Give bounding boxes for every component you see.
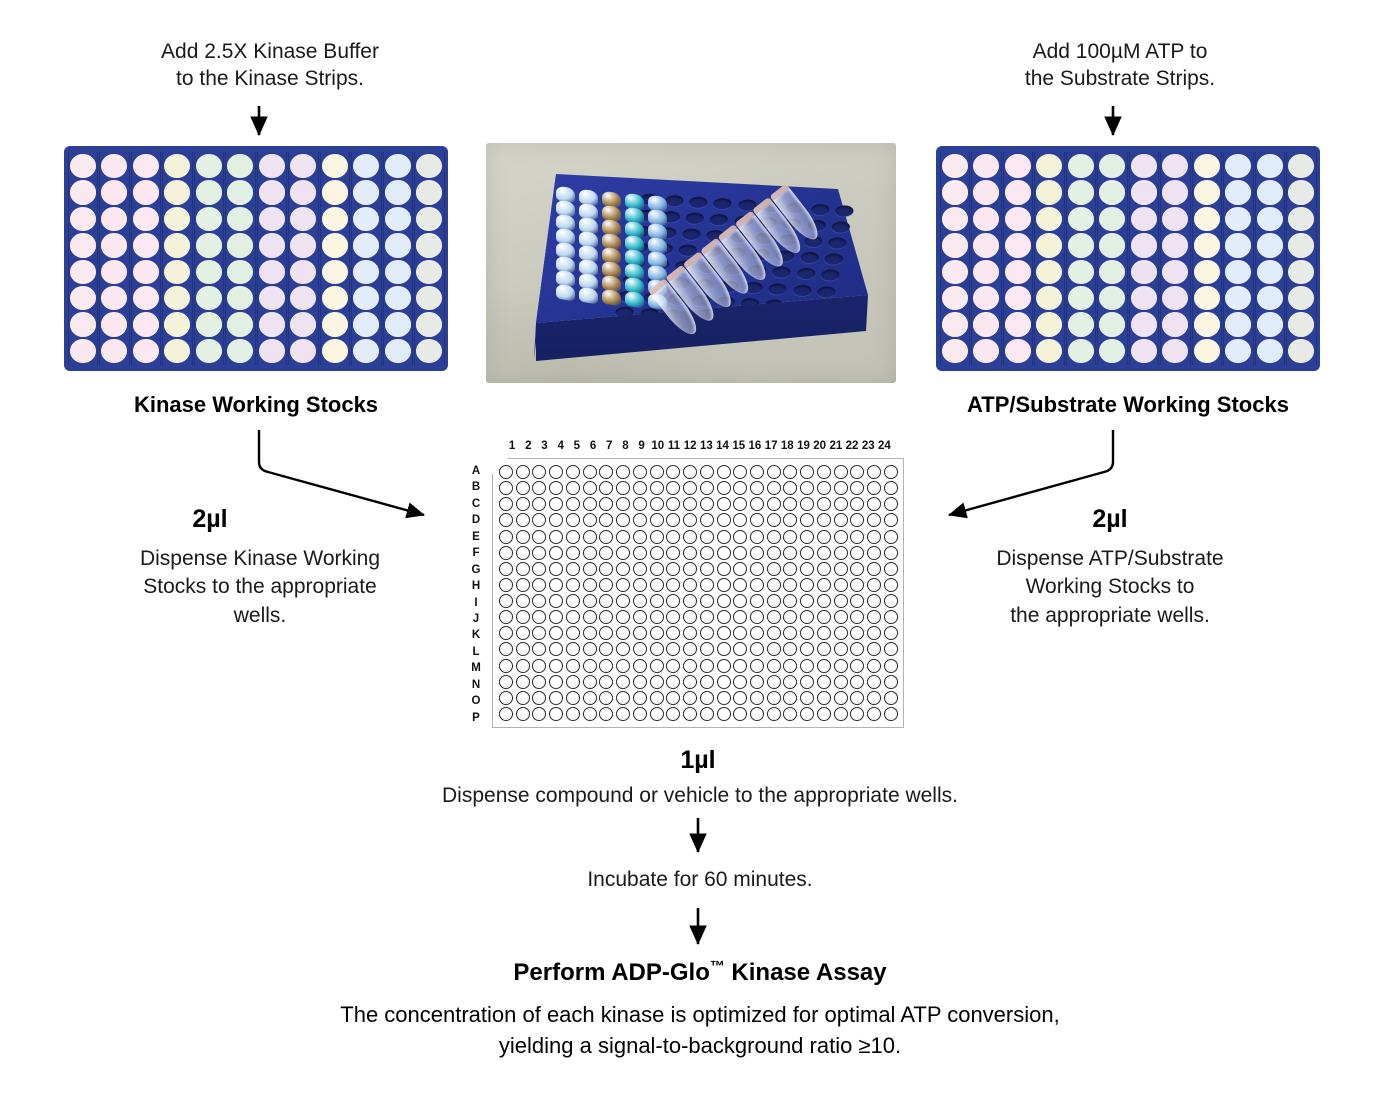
plate-well [1005,312,1031,336]
plate384-well [834,497,848,511]
plate384-well [767,562,781,576]
plate384-well [834,659,848,673]
plate384-well [650,659,664,673]
plate384-well [700,691,714,705]
plate384-well [767,642,781,656]
plate-well [227,312,253,336]
well-strip [288,150,319,367]
plate384-well [817,659,831,673]
photo-rack-hole [681,228,701,240]
plate-well [942,312,968,336]
plate384-row [499,626,898,640]
plate-well [1162,286,1188,310]
plate384-well [717,610,731,624]
plate384-well [683,594,697,608]
plate384-well [599,465,613,479]
plate-well [101,154,127,178]
plate384-well [800,594,814,608]
plate384-well [700,626,714,640]
right-instruction-line1: Add 100µM ATP to [960,38,1280,65]
plate-well [1288,260,1314,284]
plate-well [385,260,411,284]
plate384-well [850,626,864,640]
plate384-well [583,578,597,592]
plate384-well [683,626,697,640]
plate384-well [834,481,848,495]
plate384-well [717,465,731,479]
plate384-well [516,481,530,495]
plate-well [133,233,159,257]
atp-substrate-working-stocks-plate [936,146,1320,371]
plate-well [101,286,127,310]
plate384-column-label: 22 [844,440,860,452]
plate-well [353,286,379,310]
plate384-well [884,626,898,640]
plate384-well [783,497,797,511]
plate-well [322,286,348,310]
plate384-well [566,707,580,721]
plate384-well [549,594,563,608]
well-strip [383,150,414,367]
plate384-well [666,675,680,689]
plate384-well [834,642,848,656]
plate384-well [516,626,530,640]
plate384-well [549,626,563,640]
plate384-well [867,497,881,511]
plate-well [416,339,442,363]
plate-well [1257,260,1283,284]
photo-rack-hole [831,221,851,233]
photo-colored-tube-strip [625,192,644,307]
well-strip [257,150,288,367]
plate-well [101,233,127,257]
well-strip [1129,150,1160,367]
plate384-well [834,707,848,721]
plate384-well [499,675,513,689]
plate384-row-label: K [468,627,484,643]
plate384-well [549,659,563,673]
plate384-well [700,497,714,511]
plate384-row-label: E [468,529,484,545]
plate384-column-label: 14 [714,440,730,452]
plate384-well [783,707,797,721]
plate384-well [750,610,764,624]
plate-well [101,339,127,363]
plate384-well [733,691,747,705]
plate384-well [767,497,781,511]
plate384-well [532,562,546,576]
plate384-well [834,626,848,640]
plate384-well [666,513,680,527]
photo-colored-tube-strip [579,188,598,303]
plate384-well [650,562,664,576]
plate-well [385,312,411,336]
plate-well [416,207,442,231]
plate-well [1068,154,1094,178]
plate384-well [549,578,563,592]
well-strip [1003,150,1034,367]
plate-well [1131,180,1157,204]
plate-well [942,180,968,204]
plate384-well [783,610,797,624]
plate384-column-label: 18 [779,440,795,452]
plate384-well [867,546,881,560]
plate-well [133,339,159,363]
plate-well [70,312,96,336]
plate384-well [783,626,797,640]
plate384-well [633,594,647,608]
plate384-well [633,497,647,511]
plate-well [164,286,190,310]
plate-well [1005,154,1031,178]
plate384-well [650,642,664,656]
plate384-well [783,562,797,576]
plate-well [196,312,222,336]
plate384-column-labels: 123456789101112131415161718192021222324 [504,440,893,452]
plate384-well [717,578,731,592]
plate-well [973,339,999,363]
plate384-well [583,546,597,560]
plate384-well [650,707,664,721]
plate-well [227,260,253,284]
plate384-well [767,465,781,479]
plate384-column-label: 3 [536,440,552,452]
plate384-well [599,562,613,576]
plate-well [1162,312,1188,336]
plate384-well [616,626,630,640]
right-caption-line1: Dispense ATP/Substrate [955,545,1265,573]
plate384-well [499,513,513,527]
plate384-column-label: 7 [601,440,617,452]
plate384-well [599,578,613,592]
plate-well [227,207,253,231]
plate384-well [850,465,864,479]
plate384-well [850,562,864,576]
plate384-well [834,610,848,624]
plate-well [973,260,999,284]
plate384-well [783,530,797,544]
plate-well [290,260,316,284]
plate384-well [549,497,563,511]
plate-well [1225,286,1251,310]
plate384-well [817,707,831,721]
plate384-well [783,675,797,689]
plate384-well [700,465,714,479]
plate-well [1288,154,1314,178]
plate384-well [800,530,814,544]
plate-well [1194,312,1220,336]
plate-well [1194,154,1220,178]
plate384-column-label: 16 [747,440,763,452]
plate384-well [516,691,530,705]
plate-well [290,154,316,178]
plate384-row-label: M [468,660,484,676]
plate-well [353,207,379,231]
plate-well [942,286,968,310]
well-strip [1066,150,1097,367]
plate384-well [850,546,864,560]
plate384-well [599,594,613,608]
left-volume-label: 2µl [130,503,290,536]
plate384-well [499,530,513,544]
plate384-well [850,675,864,689]
plate384-well [733,626,747,640]
plate384-well [867,691,881,705]
plate384-well [566,594,580,608]
plate384-well [583,497,597,511]
plate384-well [733,497,747,511]
plate-well [416,180,442,204]
plate384-well [733,642,747,656]
plate384-well [817,675,831,689]
tube-rack-photo [486,143,896,383]
plate384-well [666,642,680,656]
plate384-well [767,481,781,495]
plate-well [227,233,253,257]
plate-well [133,207,159,231]
plate-well [1257,286,1283,310]
plate-well [1005,207,1031,231]
plate384-well [700,546,714,560]
plate384-well [683,578,697,592]
plate384-row-label: J [468,611,484,627]
plate384-well [800,513,814,527]
plate-well [1257,180,1283,204]
plate384-well [499,497,513,511]
plate384-well [750,513,764,527]
plate384-well [616,546,630,560]
plate-well [227,339,253,363]
plate384-well [666,497,680,511]
footer-note-line2: yielding a signal-to-background ratio ≥1… [270,1031,1130,1062]
plate384-well [532,626,546,640]
plate384-well [599,707,613,721]
plate384-well [516,594,530,608]
plate384-well [583,562,597,576]
plate-well [973,180,999,204]
plate384-well [499,562,513,576]
plate384-well [499,594,513,608]
plate384-well [616,691,630,705]
plate384-well [549,513,563,527]
plate384-well [700,562,714,576]
plate-well [1194,207,1220,231]
plate384-well [532,465,546,479]
plate-well [1225,233,1251,257]
plate384-well [599,610,613,624]
plate384-well [750,481,764,495]
plate384-well [750,465,764,479]
well-strip [414,150,445,367]
plate384-well [650,610,664,624]
plate384-well [750,546,764,560]
plate-well [1225,339,1251,363]
plate384-well [884,594,898,608]
plate384-well [867,610,881,624]
plate384-row [499,530,898,544]
plate-well [1131,154,1157,178]
plate384-well [616,481,630,495]
plate384-well [633,691,647,705]
plate384-well [817,626,831,640]
plate384-well [867,465,881,479]
plate384-row [499,659,898,673]
plate-well [1036,207,1062,231]
well-strip [1223,150,1254,367]
plate384-well [717,530,731,544]
plate384-well [783,465,797,479]
plate384-column-label: 12 [682,440,698,452]
plate-well [385,286,411,310]
plate-well [1131,207,1157,231]
plate-well [1288,207,1314,231]
left-caption-line1: Dispense Kinase Working [110,545,410,573]
plate384-well [616,642,630,656]
plate384-well [800,497,814,511]
plate-well [290,180,316,204]
plate384-well [733,481,747,495]
photo-colored-tube-strip [556,185,575,300]
plate384-well [566,562,580,576]
plate384-well [683,642,697,656]
plate384-well [633,530,647,544]
plate384-well [583,675,597,689]
plate-well [1005,233,1031,257]
plate384-column-label: 5 [569,440,585,452]
plate384-well [817,481,831,495]
plate-well [1036,286,1062,310]
plate384-well [783,481,797,495]
plate384-well [650,546,664,560]
plate-well [101,180,127,204]
plate-well [1131,233,1157,257]
plate384-well [650,594,664,608]
plate384-well [800,642,814,656]
plate384-well [616,497,630,511]
plate384-well [783,691,797,705]
plate-well [1005,286,1031,310]
plate384-well [750,626,764,640]
plate384-well [532,594,546,608]
plate384-well [783,659,797,673]
plate-well [1288,339,1314,363]
plate384-well [884,707,898,721]
plate384-well [800,626,814,640]
plate384-well [700,610,714,624]
plate384-column-label: 1 [504,440,520,452]
photo-rack-hole [792,284,812,296]
plate-well [973,286,999,310]
plate384-well [499,546,513,560]
plate384-well [867,626,881,640]
plate384-well [717,626,731,640]
plate-well [1068,260,1094,284]
plate384-well [700,513,714,527]
well-strip [99,150,130,367]
photo-rack-hole [817,285,837,297]
plate384-well [733,530,747,544]
plate384-well [834,530,848,544]
plate-well [1162,180,1188,204]
plate384-well [532,675,546,689]
plate384-well [633,626,647,640]
plate-well [1099,339,1125,363]
plate384-well [583,481,597,495]
plate384-well [566,659,580,673]
plate384-well [499,481,513,495]
plate384-well [750,707,764,721]
plate384-row-label: B [468,479,484,495]
plate384-well [867,659,881,673]
plate384-row-label: F [468,545,484,561]
plate-well [1068,207,1094,231]
plate-well [70,154,96,178]
plate384-well [750,530,764,544]
left-caption-line2: Stocks to the appropriate [110,573,410,601]
plate384-row-label: D [468,512,484,528]
plate-well [1099,180,1125,204]
plate384-well [750,642,764,656]
plate384-well [834,465,848,479]
plate384-well [549,675,563,689]
plate384-well [867,530,881,544]
plate384-well [683,610,697,624]
plate-well [416,233,442,257]
plate-well [164,154,190,178]
plate384-well [616,578,630,592]
plate384-well [884,465,898,479]
plate-well [1131,339,1157,363]
plate384-well [884,530,898,544]
well-strip [194,150,225,367]
plate384-well [499,707,513,721]
plate384-well [516,578,530,592]
incubate-caption: Incubate for 60 minutes. [480,866,920,894]
plate-well [1068,180,1094,204]
plate384-well [717,594,731,608]
plate-well [1225,312,1251,336]
plate384-well [767,675,781,689]
plate-well [290,312,316,336]
plate384-well [549,562,563,576]
plate-well [101,260,127,284]
plate-well [1194,286,1220,310]
plate384-well [817,513,831,527]
plate384-well [850,513,864,527]
plate384-well [700,594,714,608]
plate384-well [817,497,831,511]
well-strip [68,150,99,367]
plate384-row [499,497,898,511]
plate384-well [700,530,714,544]
well-strip [1160,150,1191,367]
plate384-well [733,594,747,608]
plate384-well [717,691,731,705]
plate384-row-label: H [468,578,484,594]
plate384-well [516,530,530,544]
plate-well [353,260,379,284]
plate-well [1225,180,1251,204]
plate384-column-label: 23 [860,440,876,452]
plate384-well [867,594,881,608]
plate-well [196,233,222,257]
plate384-well [616,465,630,479]
photo-rack-hole [709,213,729,225]
plate384-well [583,594,597,608]
plate384-well [884,642,898,656]
plate384-well [683,530,697,544]
plate-well [259,286,285,310]
